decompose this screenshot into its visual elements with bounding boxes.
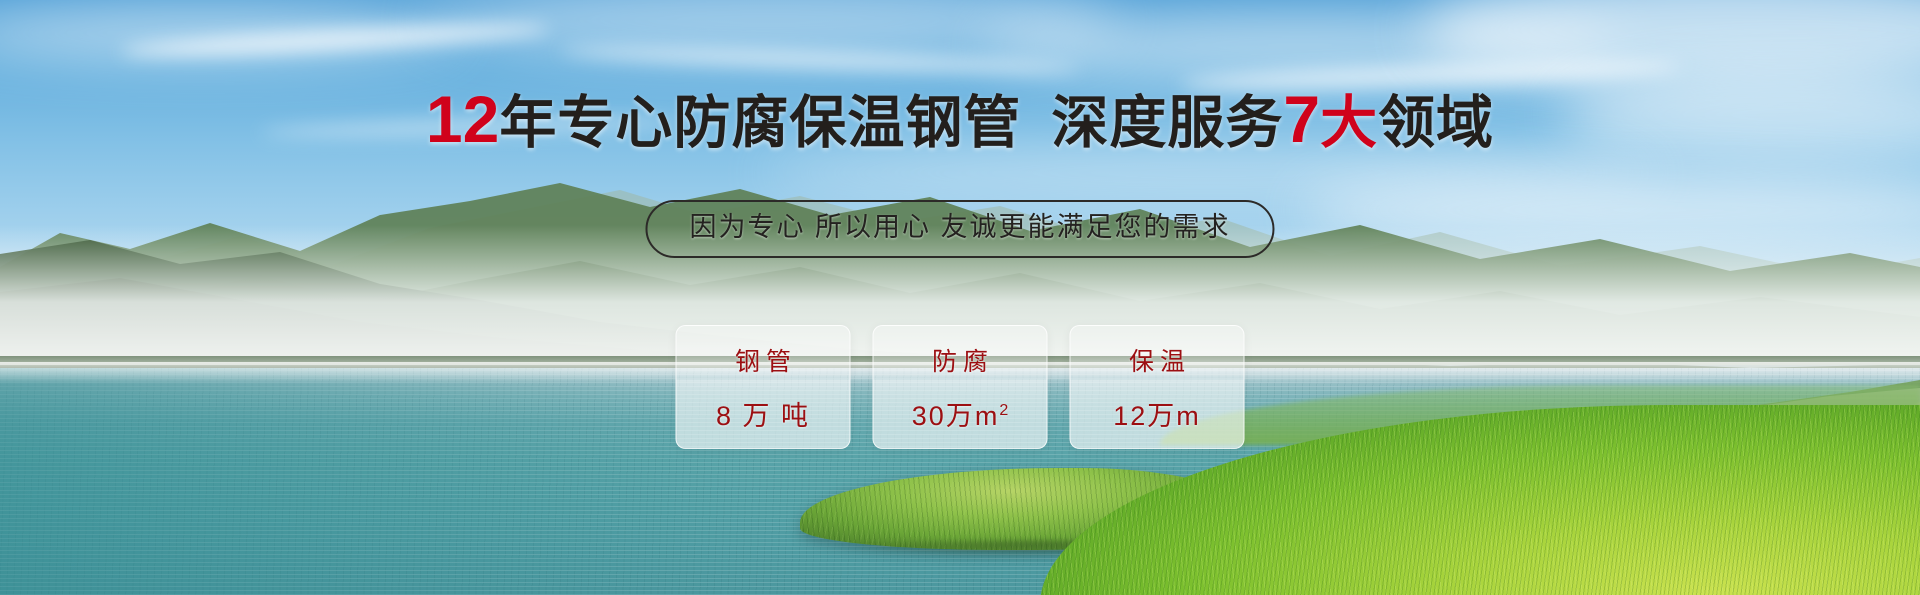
stat-card-insulation: 保温 12万m <box>1070 325 1245 449</box>
stat-value-superscript: 2 <box>999 402 1008 419</box>
headline-number: 12 <box>426 82 499 156</box>
headline: 12年专心防腐保温钢管深度服务7大领域 <box>0 86 1920 152</box>
headline-accent-number: 7 <box>1283 82 1320 156</box>
stat-card-anticorrosion: 防腐 30万m2 <box>873 325 1048 449</box>
hero-banner: 12年专心防腐保温钢管深度服务7大领域 因为专心 所以用心 友诚更能满足您的需求… <box>0 0 1920 595</box>
headline-part2: 深度服务 <box>1051 91 1283 155</box>
headline-part1: 年专心防腐保温钢管 <box>499 91 1021 155</box>
stat-label: 保温 <box>1123 342 1191 378</box>
stat-value: 8 万 吨 <box>716 394 810 433</box>
stat-card-steel-pipe: 钢管 8 万 吨 <box>676 325 851 449</box>
stat-label: 防腐 <box>926 342 994 378</box>
stat-value-main: 8 万 吨 <box>716 401 810 431</box>
stat-value-main: 12万m <box>1113 401 1201 431</box>
stat-value: 12万m <box>1113 394 1201 433</box>
stat-value-main: 30万m <box>912 401 1000 431</box>
lake-left-shading <box>0 368 760 595</box>
stat-value: 30万m2 <box>912 394 1008 433</box>
headline-accent-char: 大 <box>1320 91 1378 155</box>
stat-label: 钢管 <box>729 342 797 378</box>
stat-card-group: 钢管 8 万 吨 防腐 30万m2 保温 12万m <box>676 325 1245 449</box>
headline-part3: 领域 <box>1378 91 1494 155</box>
subtitle-pill: 因为专心 所以用心 友诚更能满足您的需求 <box>645 200 1274 258</box>
